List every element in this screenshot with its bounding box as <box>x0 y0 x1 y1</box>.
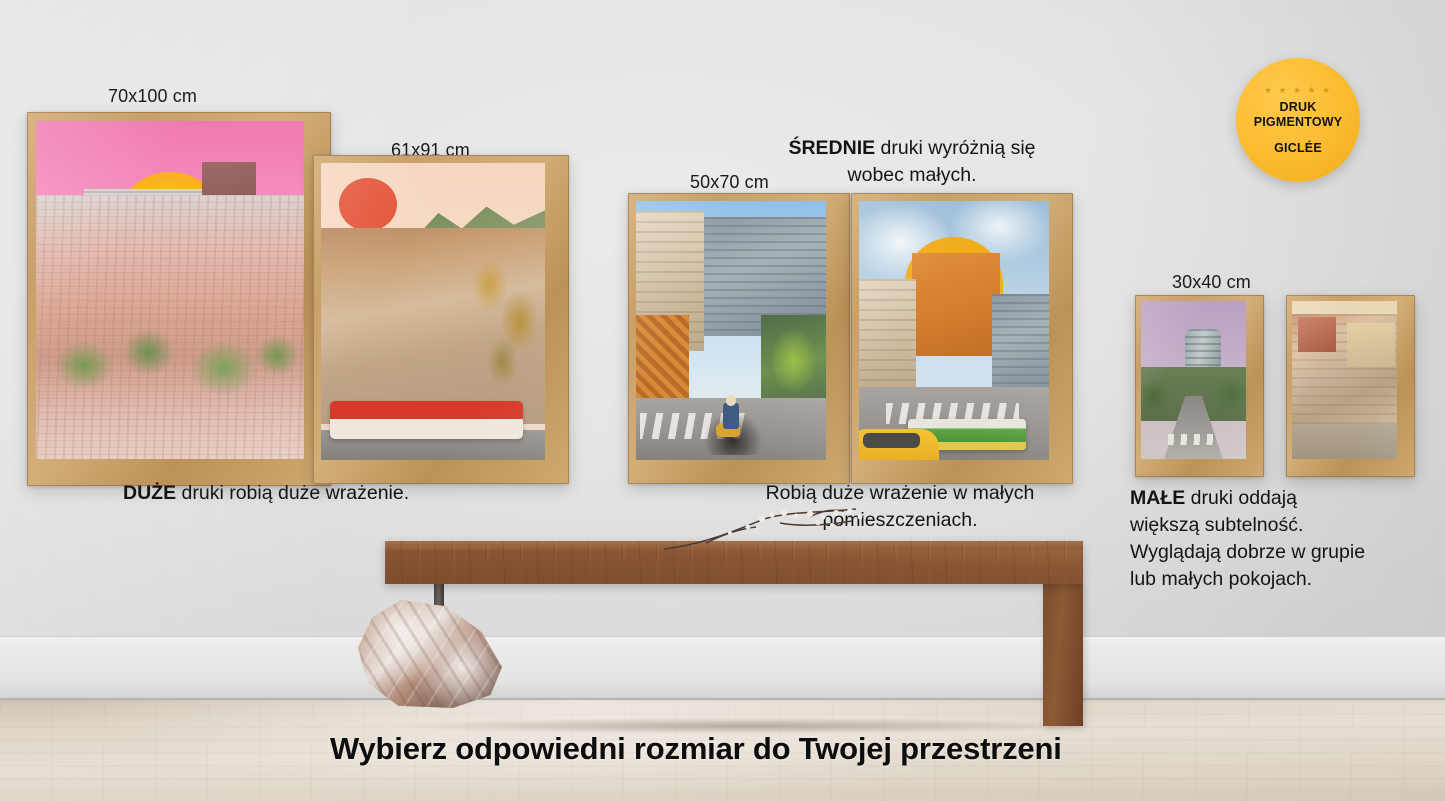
caption-large-strong: DUŻE <box>123 482 176 504</box>
poster-violet-street-rotunda[interactable] <box>1141 301 1246 459</box>
art-red-sun-icon <box>339 178 397 231</box>
size-label-70x100: 70x100 cm <box>108 86 197 107</box>
poster-oldtown-tram-collage[interactable] <box>321 163 545 460</box>
caption-medium-bottom-line1: Robią duże wrażenie w małych <box>735 480 1065 507</box>
art-taxi-window <box>863 433 920 449</box>
art-trees <box>36 317 304 405</box>
caption-small-line4: lub małych pokojach. <box>1130 566 1430 593</box>
art-orange-mural <box>636 315 689 398</box>
caption-small-line1: MAŁE druki oddają <box>1130 485 1430 512</box>
caption-medium-top: ŚREDNIE druki wyróżnią się wobec małych. <box>752 135 1072 189</box>
caption-large-rest: druki robią duże wrażenie. <box>176 482 409 504</box>
art-helmet <box>726 395 736 405</box>
room-scene: 70x100 cm DUŻE druki robią duże wrażenie… <box>0 0 1445 801</box>
bench-leg <box>1043 584 1083 726</box>
art-rider <box>723 403 738 429</box>
size-label-50x70: 50x70 cm <box>690 172 769 193</box>
caption-medium-rest: druki wyróżnią się <box>875 137 1035 159</box>
caption-small: MAŁE druki oddają większą subtelność. Wy… <box>1130 485 1430 593</box>
size-label-30x40: 30x40 cm <box>1172 272 1251 293</box>
poster-frame-30x40-a[interactable] <box>1135 295 1264 477</box>
page-headline: Wybierz odpowiedni rozmiar do Twojej prz… <box>330 731 1062 767</box>
art-tram-icon <box>330 401 523 440</box>
poster-frame-30x40-b[interactable] <box>1286 295 1415 477</box>
caption-medium-strong: ŚREDNIE <box>788 137 875 159</box>
art-autumn-trees <box>460 240 545 389</box>
poster-sun-rays-tram-collage[interactable] <box>859 201 1049 460</box>
caption-small-strong: MAŁE <box>1130 487 1185 509</box>
druk-pigmentowy-giclee-badge[interactable]: ★ ★ ★ ★ ★ DRUK PIGMENTOWY GICLÉE <box>1236 58 1360 182</box>
art-street <box>1292 424 1397 459</box>
decor-branch-icon <box>660 505 890 555</box>
poster-frame-50x70-b[interactable] <box>851 193 1073 484</box>
stars-icon: ★ ★ ★ ★ ★ <box>1264 85 1332 95</box>
caption-medium-line1: ŚREDNIE druki wyróżnią się <box>752 135 1072 162</box>
badge-line-2: PIGMENTOWY <box>1254 115 1343 130</box>
baseboard <box>0 636 1445 701</box>
art-modern-blocks <box>992 294 1049 398</box>
caption-small-line3: Wyglądają dobrze w grupie <box>1130 539 1430 566</box>
poster-motorcycle-street-collage[interactable] <box>636 201 826 460</box>
poster-frame-50x70-a[interactable] <box>628 193 850 484</box>
caption-small-line2: większą subtelność. <box>1130 512 1430 539</box>
poster-pink-city-sunset[interactable] <box>36 121 304 459</box>
art-tenements <box>859 279 916 393</box>
poster-frame-61x91[interactable] <box>313 155 569 484</box>
caption-small-rest: druki oddają <box>1185 487 1297 509</box>
art-mural-wall <box>912 253 999 357</box>
badge-line-3: GICLÉE <box>1274 141 1322 156</box>
art-rotunda-building <box>1185 329 1221 370</box>
badge-line-1: DRUK <box>1280 100 1317 115</box>
poster-warm-architecture-collage[interactable] <box>1292 301 1397 459</box>
art-brick-building <box>1298 317 1336 352</box>
art-cream-building <box>1347 323 1395 367</box>
poster-frame-70x100[interactable] <box>27 112 331 486</box>
caption-medium-line2: wobec małych. <box>752 162 1072 189</box>
caption-large: DUŻE druki robią duże wrażenie. <box>123 480 543 507</box>
art-crosswalk <box>1168 434 1218 445</box>
